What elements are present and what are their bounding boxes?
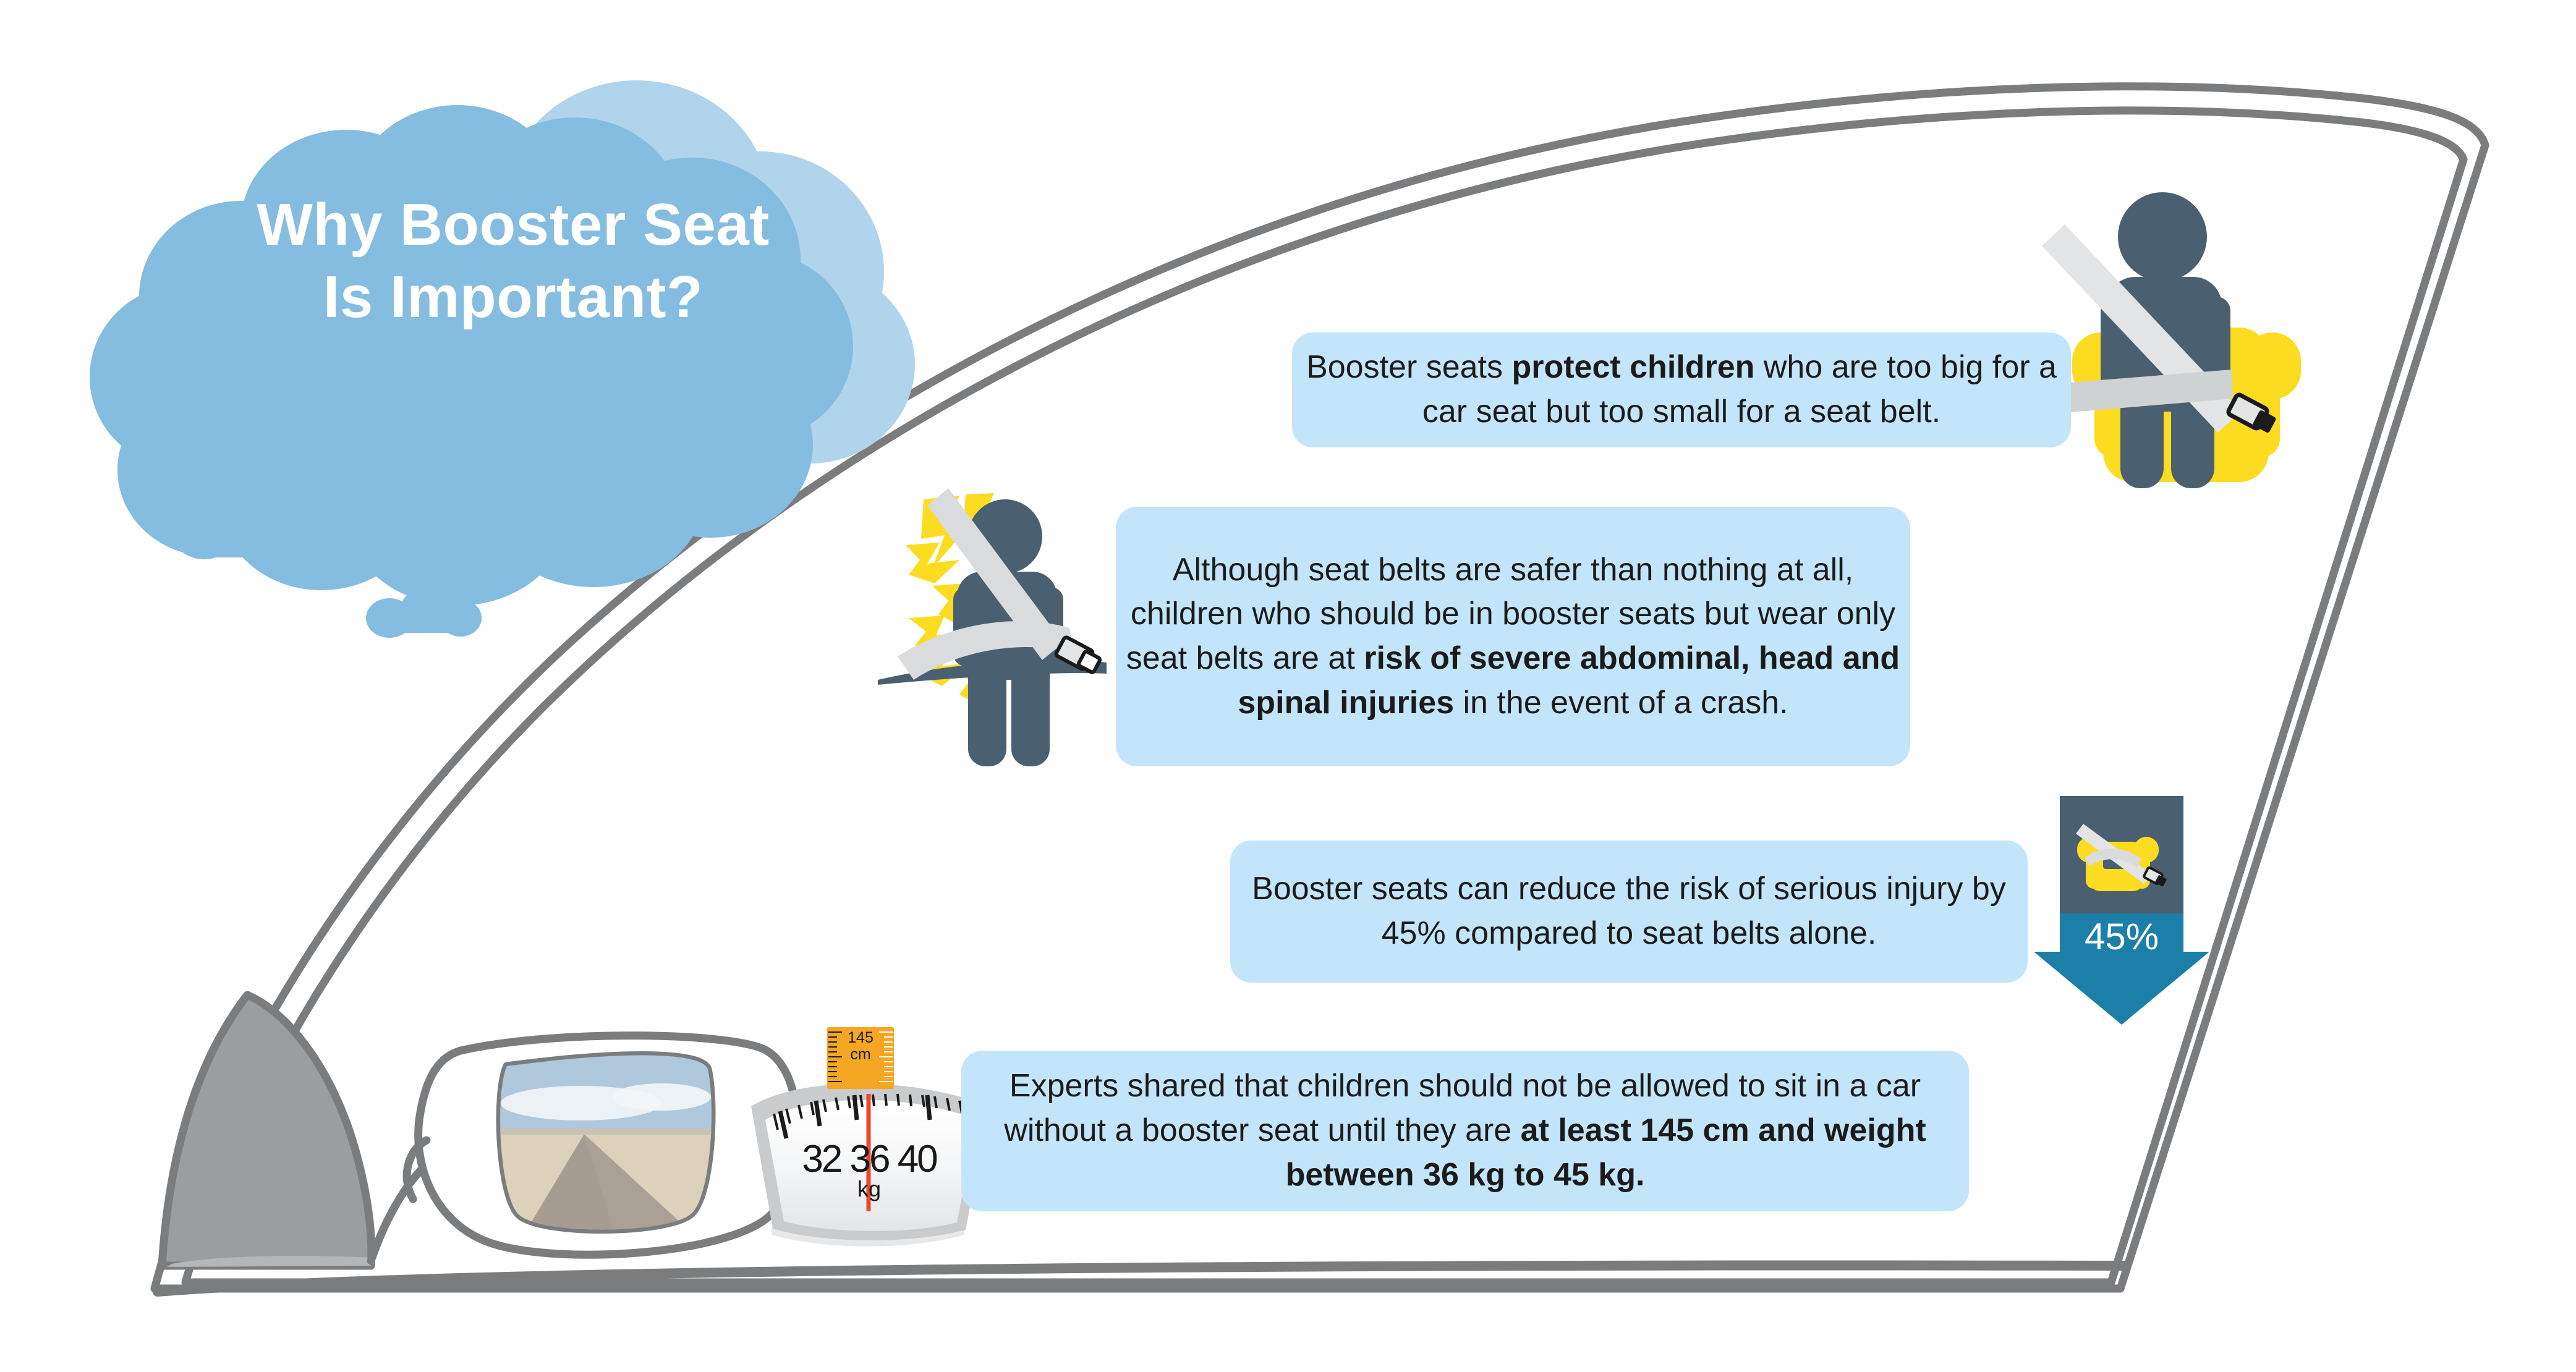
bubble-text: Booster seats protect children who are t…	[1292, 345, 2071, 434]
bubble-text: Booster seats can reduce the risk of ser…	[1230, 867, 2028, 956]
scale-reading-numbers: 32 36 40	[770, 1140, 968, 1179]
ruler-value: 145	[848, 1029, 874, 1046]
reduction-percent-label: 45%	[2060, 918, 2183, 955]
callout-bubble-protect-children: Booster seats protect children who are t…	[1292, 332, 2071, 447]
scale-unit-label: kg	[770, 1178, 968, 1200]
callout-bubble-size-requirements: Experts shared that children should not …	[961, 1051, 1969, 1211]
booster-seat-icon	[2072, 813, 2171, 906]
bubble-text-pre: Booster seats can reduce the risk of ser…	[1252, 871, 2006, 951]
bubble-text: Experts shared that children should not …	[961, 1064, 1969, 1197]
bubble-text-pre: Booster seats	[1306, 349, 1511, 385]
bubble-text-post: in the event of a crash.	[1454, 685, 1788, 721]
bubble-text-bold: protect children	[1511, 349, 1754, 385]
ruler-unit: cm	[827, 1046, 894, 1063]
reduction-arrow-badge: 45%	[2060, 796, 2183, 1025]
infographic-canvas: Why Booster Seat Is Important?	[0, 0, 2576, 1372]
callout-bubble-injury-risk: Although seat belts are safer than nothi…	[1116, 507, 1910, 766]
ruler-icon: 145 cm	[827, 1027, 894, 1089]
ruler-label: 145 cm	[827, 1030, 894, 1063]
bubble-text: Although seat belts are safer than nothi…	[1116, 548, 1910, 726]
callout-bubble-45-percent: Booster seats can reduce the risk of ser…	[1230, 841, 2028, 983]
